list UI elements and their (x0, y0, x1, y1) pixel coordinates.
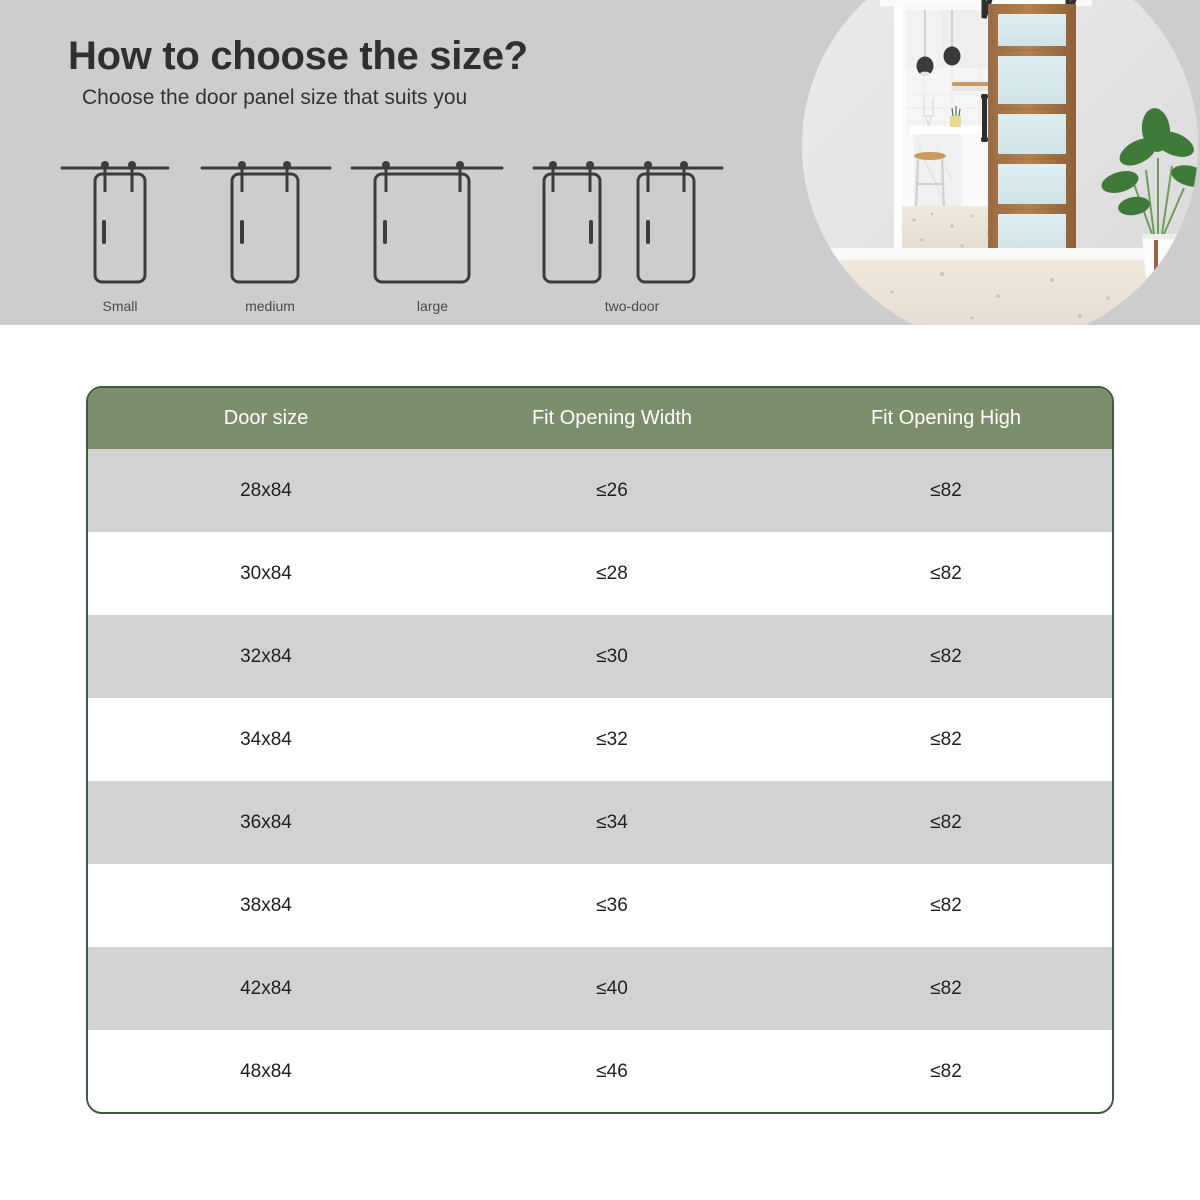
cell-door-size: 48x84 (88, 1061, 444, 1083)
cell-opening-width: ≤26 (444, 480, 780, 502)
column-header-door-size: Door size (88, 407, 444, 430)
cell-opening-high: ≤82 (780, 646, 1112, 668)
cell-door-size: 28x84 (88, 480, 444, 502)
cell-opening-width: ≤30 (444, 646, 780, 668)
table-row: 30x84 ≤28 ≤82 (88, 532, 1112, 615)
size-guide-page: How to choose the size? Choose the door … (0, 0, 1200, 1200)
banner: How to choose the size? Choose the door … (0, 0, 1200, 325)
cell-opening-high: ≤82 (780, 1061, 1112, 1083)
cell-opening-width: ≤40 (444, 978, 780, 1000)
cell-opening-width: ≤46 (444, 1061, 780, 1083)
page-subtitle: Choose the door panel size that suits yo… (82, 86, 467, 110)
column-header-opening-high: Fit Opening High (780, 407, 1112, 430)
cell-opening-high: ≤82 (780, 563, 1112, 585)
diagram-small: Small (60, 150, 180, 325)
cell-opening-width: ≤34 (444, 812, 780, 834)
page-title: How to choose the size? (68, 34, 528, 79)
cell-opening-high: ≤82 (780, 978, 1112, 1000)
table-row: 32x84 ≤30 ≤82 (88, 615, 1112, 698)
table-row: 38x84 ≤36 ≤82 (88, 864, 1112, 947)
diagram-label: two-door (532, 298, 732, 314)
cell-opening-width: ≤32 (444, 729, 780, 751)
cell-opening-high: ≤82 (780, 480, 1112, 502)
sliding-barn-door-small-icon (60, 150, 180, 300)
diagram-two-door: two-door (532, 150, 732, 325)
diagram-label: medium (200, 298, 340, 314)
table-header-row: Door size Fit Opening Width Fit Opening … (88, 388, 1112, 449)
cell-opening-width: ≤36 (444, 895, 780, 917)
cell-opening-width: ≤28 (444, 563, 780, 585)
cell-door-size: 34x84 (88, 729, 444, 751)
sliding-barn-door-large-icon (350, 150, 515, 300)
table-row: 36x84 ≤34 ≤82 (88, 781, 1112, 864)
cell-door-size: 30x84 (88, 563, 444, 585)
diagram-label: large (350, 298, 515, 314)
column-header-opening-width: Fit Opening Width (444, 407, 780, 430)
table-row: 48x84 ≤46 ≤82 (88, 1030, 1112, 1113)
table-row: 34x84 ≤32 ≤82 (88, 698, 1112, 781)
diagram-medium: medium (200, 150, 340, 325)
sliding-barn-door-two-door-icon (532, 150, 732, 300)
cell-opening-high: ≤82 (780, 729, 1112, 751)
cell-door-size: 32x84 (88, 646, 444, 668)
table-row: 28x84 ≤26 ≤82 (88, 449, 1112, 532)
diagram-large: large (350, 150, 515, 325)
cell-door-size: 36x84 (88, 812, 444, 834)
size-table: Door size Fit Opening Width Fit Opening … (86, 386, 1114, 1114)
barn-door-room-illustration (802, 0, 1198, 325)
barn-door-room-photo (802, 0, 1198, 325)
door-diagram-group: Small medium (60, 150, 780, 325)
cell-opening-high: ≤82 (780, 895, 1112, 917)
cell-door-size: 42x84 (88, 978, 444, 1000)
table-row: 42x84 ≤40 ≤82 (88, 947, 1112, 1030)
sliding-barn-door-medium-icon (200, 150, 340, 300)
cell-door-size: 38x84 (88, 895, 444, 917)
diagram-label: Small (60, 298, 180, 314)
cell-opening-high: ≤82 (780, 812, 1112, 834)
